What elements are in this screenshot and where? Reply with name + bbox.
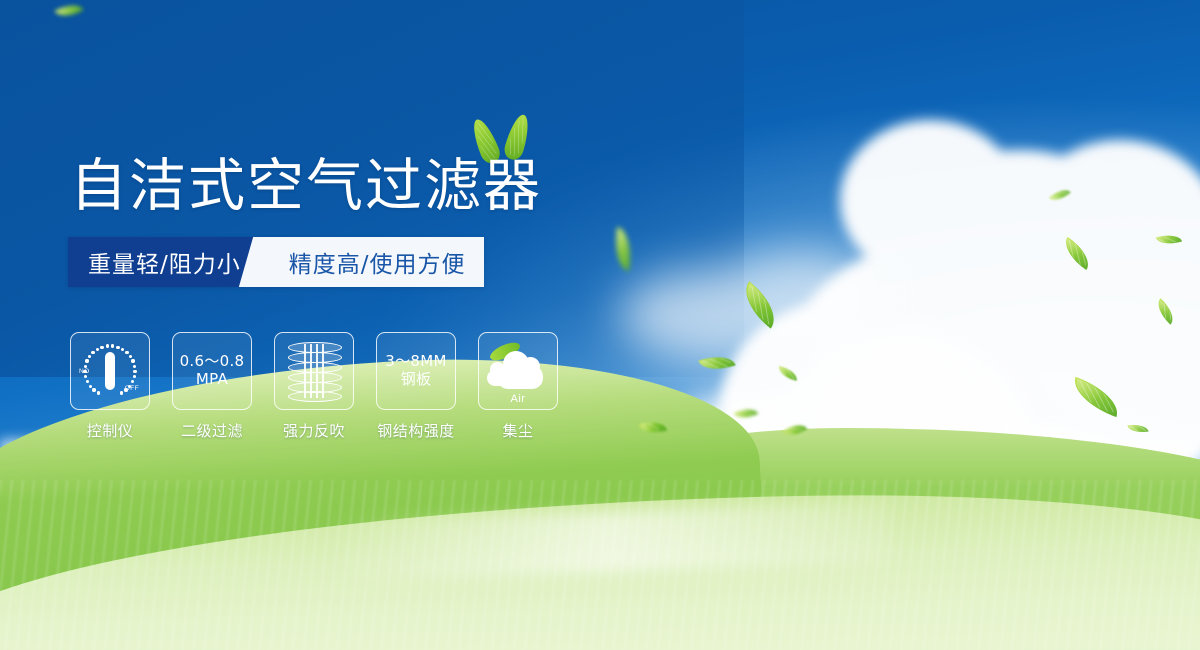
feature-label: 集尘 — [502, 420, 533, 441]
feature-box: 3～8MM 钢板 — [376, 332, 456, 410]
feature-item-dust-collection[interactable]: Air 集尘 — [478, 332, 558, 441]
pressure-text-icon: 0.6～0.8 MPA — [180, 353, 245, 388]
feature-label: 钢结构强度 — [377, 420, 455, 441]
steel-plate-text-icon: 3～8MM 钢板 — [385, 353, 446, 388]
subtitle-left-panel: 重量轻/阻力小 — [68, 237, 263, 287]
air-cloud-icon: Air — [487, 345, 549, 397]
feature-text-line2: 钢板 — [385, 371, 446, 389]
feature-item-back-blow[interactable]: 强力反吹 — [274, 332, 354, 441]
subtitle-right-text: 精度高/使用方便 — [289, 245, 466, 279]
air-label: Air — [487, 393, 549, 405]
grass-texture — [0, 480, 1200, 650]
feature-text-line1: 3～8MM — [385, 352, 446, 370]
subtitle-right-panel: 精度高/使用方便 — [263, 237, 484, 287]
feature-item-steel-strength[interactable]: 3～8MM 钢板 钢结构强度 — [376, 332, 456, 441]
feature-box — [274, 332, 354, 410]
feature-list: NO OFF 控制仪 0.6～0.8 MPA 二级过滤 — [70, 332, 558, 441]
feature-label: 二级过滤 — [181, 420, 243, 441]
feature-label: 控制仪 — [87, 420, 134, 441]
subtitle-left-text: 重量轻/阻力小 — [88, 245, 241, 279]
feature-label: 强力反吹 — [283, 420, 345, 441]
feature-text-line2: MPA — [180, 371, 245, 389]
gauge-off-label: OFF — [125, 385, 139, 392]
page-title: 自洁式空气过滤器 — [70, 140, 542, 222]
filter-coil-icon — [288, 342, 340, 400]
feature-box: NO OFF — [70, 332, 150, 410]
feature-box: 0.6～0.8 MPA — [172, 332, 252, 410]
subtitle-bar: 重量轻/阻力小 精度高/使用方便 — [68, 237, 484, 287]
feature-text-line1: 0.6～0.8 — [180, 352, 245, 370]
gauge-no-label: NO — [79, 368, 90, 375]
feature-box: Air — [478, 332, 558, 410]
promo-banner: 自洁式空气过滤器 重量轻/阻力小 精度高/使用方便 NO OFF 控制仪 — [0, 0, 1200, 650]
gauge-dial-icon: NO OFF — [79, 341, 141, 401]
cloud-wisp-center — [620, 250, 880, 370]
feature-item-controller[interactable]: NO OFF 控制仪 — [70, 332, 150, 441]
feature-item-two-stage-filter[interactable]: 0.6～0.8 MPA 二级过滤 — [172, 332, 252, 441]
